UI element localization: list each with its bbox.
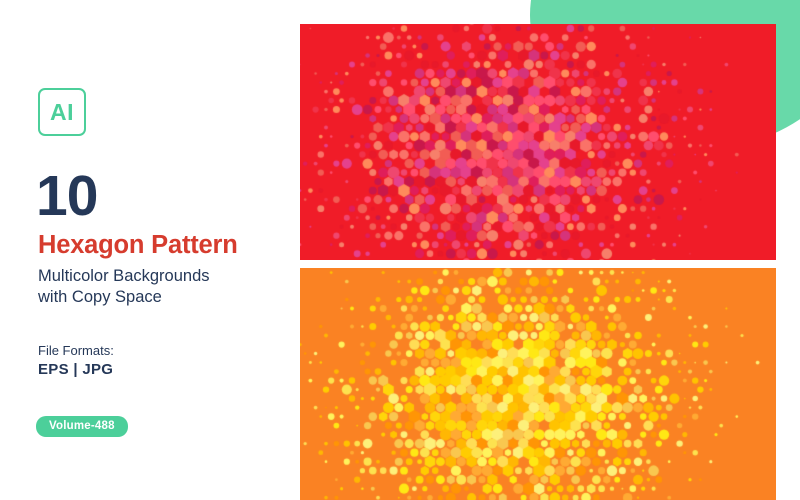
poster-canvas: AI 10 Hexagon Pattern Multicolor Backgro… <box>0 0 800 500</box>
page-subtitle-line-1: Multicolor Backgrounds <box>38 266 288 287</box>
ai-format-badge: AI <box>38 88 86 136</box>
file-formats-value: EPS | JPG <box>38 361 113 378</box>
preview-red-hexagon-pattern[interactable] <box>300 24 776 260</box>
volume-badge: Volume-488 <box>36 416 128 437</box>
page-subtitle: Multicolor Backgrounds with Copy Space <box>38 266 288 308</box>
ai-format-badge-label: AI <box>50 99 74 126</box>
item-count: 10 <box>36 168 97 225</box>
preview-orange-hexagon-pattern[interactable] <box>300 268 776 500</box>
preview-red-canvas <box>300 24 776 260</box>
file-formats-label: File Formats: <box>38 343 114 358</box>
page-title: Hexagon Pattern <box>38 232 238 259</box>
page-subtitle-line-2: with Copy Space <box>38 287 288 308</box>
info-panel: AI 10 Hexagon Pattern Multicolor Backgro… <box>0 0 300 500</box>
preview-orange-canvas <box>300 268 776 500</box>
